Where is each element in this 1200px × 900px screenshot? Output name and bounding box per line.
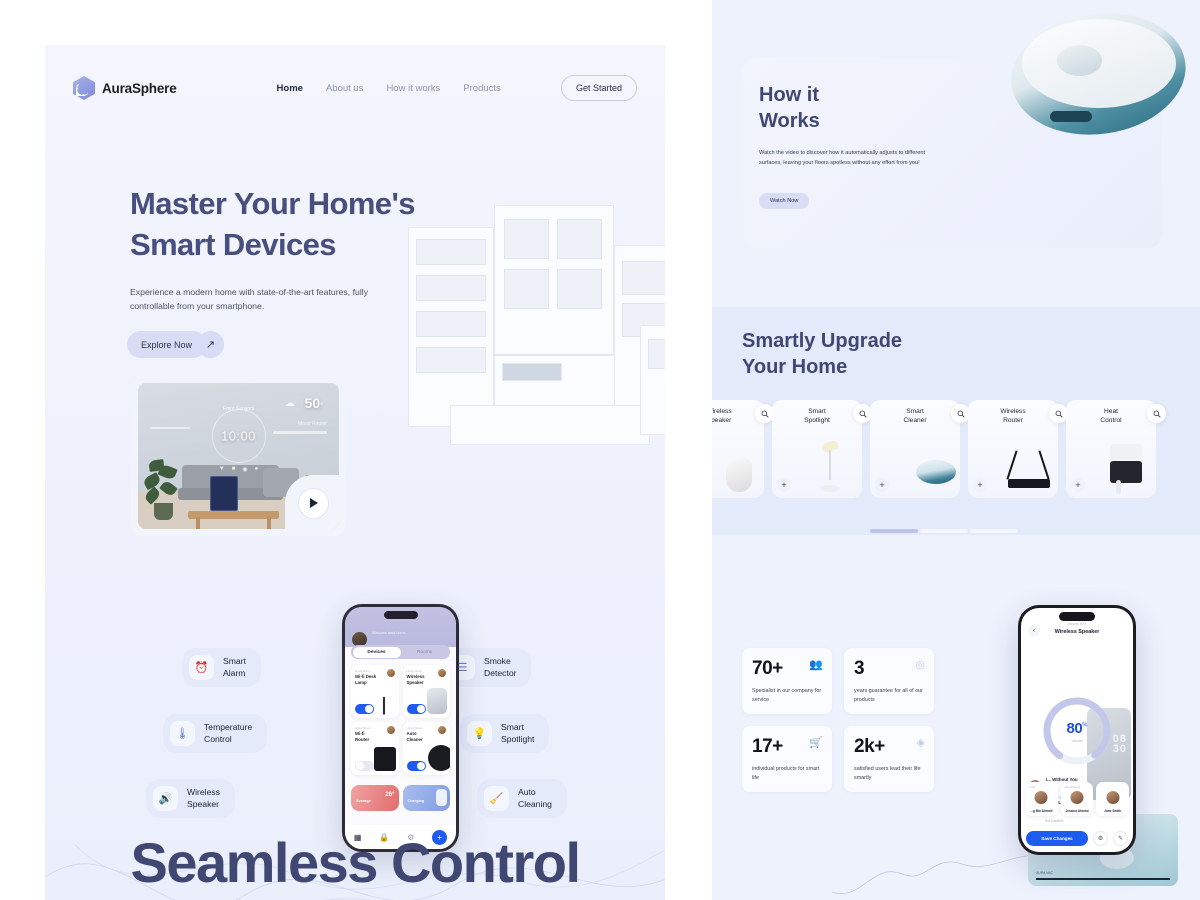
nav-links: Home About us How it works Products — [277, 83, 501, 94]
site-header: AuraSphere Home About us How it works Pr… — [45, 65, 665, 111]
feature-pill-smart-spotlight[interactable]: 💡 SmartSpotlight — [460, 714, 549, 753]
plus-icon[interactable]: + — [1071, 478, 1085, 492]
preview-clock: 10:00 — [221, 428, 256, 443]
status-strip-charging[interactable]: Charging50% — [403, 785, 451, 811]
living-room-photo: Front Sensors 10:00 ☁ 50° Mood Router ▼■… — [138, 383, 339, 529]
device-card[interactable]: Living Room Wi-fi Desk Lamp — [351, 665, 399, 718]
stat-number: 2k+ — [854, 736, 924, 758]
speaker-image — [726, 458, 752, 492]
search-icon[interactable] — [1147, 404, 1166, 423]
feature-pill-label: AutoCleaning — [518, 787, 552, 810]
product-name: WirelessRouter — [968, 408, 1058, 426]
product-carousel[interactable]: WirelessSpeaker + SmartSpotlight — [712, 400, 1162, 498]
feature-pill-label: SmokeDetector — [484, 656, 516, 679]
brand-name: AuraSphere — [102, 81, 177, 96]
device-card[interactable]: Living Room Wi-fi Router — [351, 722, 399, 775]
product-name: SmartSpotlight — [772, 408, 862, 426]
phone-mockup-right: Volume 80% Wireless Speaker ‹ 0830 80% V… — [1018, 605, 1136, 855]
preview-controls: ▼■◉● — [219, 466, 258, 473]
hero-subtitle: Experience a modern home with state-of-t… — [130, 285, 400, 314]
plus-icon[interactable]: + — [777, 478, 791, 492]
wifi-hexagon-logo-icon — [73, 76, 95, 100]
speaker-image — [427, 688, 447, 714]
product-card-smart-spotlight[interactable]: SmartSpotlight + — [772, 400, 862, 498]
gear-icon[interactable]: ⚙ — [1093, 831, 1108, 846]
device-name: Wi-fi Desk Lamp — [355, 674, 377, 685]
feature-pill-label: WirelessSpeaker — [187, 787, 220, 810]
save-changes-button[interactable]: Save Changes — [1026, 831, 1088, 846]
device-name: Auto Cleaner — [407, 731, 429, 742]
stat-number: 3 — [854, 658, 924, 680]
phone-actions: Save Changes ⚙ ✎ — [1026, 831, 1128, 846]
strip-value: 26° — [385, 792, 394, 798]
avatar — [387, 669, 395, 677]
home-dashboard-preview: Front Sensors 10:00 ☁ 50° Mood Router ▼■… — [131, 376, 346, 536]
screenshot-stage: AuraSphere Home About us How it works Pr… — [0, 0, 1200, 900]
people-row: 1720 ...g Bin Ahmed Now Playing Jessica … — [1025, 782, 1129, 816]
pagination-bar-3[interactable] — [970, 529, 1018, 533]
cart-icon: 🛒 — [809, 736, 823, 749]
device-name: Wi-fi Router — [355, 731, 377, 742]
video-caption: AURA VAC — [1036, 871, 1053, 875]
play-button-wrapper — [285, 475, 339, 529]
greeting-text: Welcome back home, — [372, 631, 407, 635]
alarm-clock-icon: ⏰ — [189, 655, 214, 680]
volume-percent: 80% Volume — [1042, 696, 1112, 766]
upgrade-title-line1: Smartly Upgrade — [742, 328, 902, 354]
avatar — [387, 726, 395, 734]
cloud-icon: ☁ — [285, 398, 295, 409]
desk-lamp-image — [808, 440, 856, 492]
explore-now-button[interactable]: Explore Now ↗ — [127, 331, 224, 358]
person-card[interactable]: Jane Smith — [1096, 782, 1129, 816]
phone-header: Welcome back home, Mudheel Anderson — [345, 607, 456, 647]
how-it-works-body: Watch the video to discover how it autom… — [759, 148, 939, 169]
feature-pill-wireless-speaker[interactable]: 🔊 WirelessSpeaker — [146, 779, 235, 818]
arrow-up-right-icon: ↗ — [197, 331, 224, 358]
product-card-wireless-router[interactable]: WirelessRouter + — [968, 400, 1058, 498]
product-card-wireless-speaker[interactable]: WirelessSpeaker + — [712, 400, 764, 498]
person-name: Jessica Ahmed — [1061, 809, 1094, 813]
digital-clock: 0830 — [1113, 734, 1127, 755]
avatar — [438, 726, 446, 734]
cleaner-image — [428, 745, 450, 771]
device-card-grid: Living Room Wi-fi Desk Lamp Living Room … — [351, 665, 450, 775]
router-image — [1004, 440, 1052, 492]
preview-temperature: 50° — [305, 395, 323, 411]
nav-item-home[interactable]: Home — [277, 83, 303, 94]
lifebuoy-icon: ◈ — [917, 736, 925, 749]
stat-card: 17+ individual products for smart life 🛒 — [742, 726, 832, 792]
building-illustration — [390, 205, 665, 475]
device-toggle[interactable] — [407, 704, 426, 714]
person-card[interactable]: 1720 ...g Bin Ahmed — [1025, 782, 1058, 816]
feature-pill-temperature-control[interactable]: 🌡 TemperatureControl — [163, 714, 267, 753]
upgrade-title: Smartly Upgrade Your Home — [742, 328, 902, 381]
play-icon[interactable] — [298, 488, 329, 519]
person-card[interactable]: Now Playing Jessica Ahmed — [1061, 782, 1094, 816]
feature-pill-label: TemperatureControl — [204, 722, 252, 745]
battery-icon — [436, 789, 447, 806]
product-name: SmartCleaner — [870, 408, 960, 426]
stat-caption: individual products for smart life — [752, 765, 822, 784]
nav-item-products[interactable]: Products — [463, 83, 501, 94]
right-landing-page: How it Works Watch the video to discover… — [712, 0, 1200, 900]
get-started-button[interactable]: Get Started — [561, 75, 637, 101]
target-icon: ◎ — [915, 658, 925, 671]
avatar — [1071, 791, 1084, 804]
stat-card: 3 years guarantee for all of our product… — [844, 648, 934, 714]
seamless-control-heading: Seamless Control — [45, 830, 665, 895]
device-name: Wireless Speaker — [407, 674, 429, 685]
feature-pill-smart-alarm[interactable]: ⏰ SmartAlarm — [182, 648, 261, 687]
stat-caption: Specialist in our company for service — [752, 687, 822, 706]
watch-now-button[interactable]: Watch Now — [759, 193, 809, 209]
phone-notch — [384, 611, 418, 619]
robot-vacuum-hero-image — [1011, 14, 1186, 134]
carousel-pagination[interactable] — [870, 529, 1018, 533]
stat-card: 70+ Specialist in our company for servic… — [742, 648, 832, 714]
how-it-works-title-line1: How it — [759, 82, 820, 108]
device-toggle[interactable] — [355, 761, 374, 771]
nav-item-how-it-works[interactable]: How it works — [386, 83, 440, 94]
feature-pill-label: SmartAlarm — [223, 656, 246, 679]
person-tag: 1720 — [1029, 785, 1035, 789]
device-card[interactable]: Living Room Auto Cleaner — [403, 722, 451, 775]
person-tag: Now Playing — [1065, 785, 1081, 789]
explore-now-label: Explore Now — [127, 331, 206, 358]
strip-label: AverageTemp — [356, 799, 371, 811]
phone-notch — [1059, 612, 1095, 621]
lightbulb-icon: 💡 — [467, 721, 492, 746]
how-it-works-title-line2: Works — [759, 108, 820, 134]
router-image — [374, 747, 396, 771]
people-icon: 👥 — [809, 658, 823, 671]
feature-pill-label: SmartSpotlight — [501, 722, 534, 745]
product-card-heat-control[interactable]: HeatControl + — [1066, 400, 1156, 498]
person-name: ...g Bin Ahmed — [1025, 809, 1058, 813]
product-card-smart-cleaner[interactable]: SmartCleaner + — [870, 400, 960, 498]
status-strip-average-temp[interactable]: AverageTemp 26° — [351, 785, 399, 811]
device-toggle[interactable] — [355, 704, 374, 714]
chevron-left-icon[interactable]: ‹ — [1028, 625, 1040, 637]
thermometer-icon: 🌡 — [170, 721, 195, 746]
stats-grid: 70+ Specialist in our company for servic… — [742, 648, 934, 792]
vacuum-icon: 🧹 — [484, 786, 509, 811]
feature-pill-auto-cleaning[interactable]: 🧹 AutoCleaning — [477, 779, 567, 818]
stat-caption: years guarantee for all of our products — [854, 687, 924, 706]
how-it-works-title: How it Works — [759, 82, 820, 135]
avatar — [438, 669, 446, 677]
stat-caption: satisfied users lead their life smartly — [854, 765, 924, 784]
phone-tabs: Devices Rooms — [351, 645, 450, 659]
plus-icon[interactable]: + — [875, 478, 889, 492]
brand[interactable]: AuraSphere — [73, 76, 177, 100]
cable-line — [832, 842, 1052, 900]
avatar — [1035, 791, 1048, 804]
plant — [146, 459, 180, 520]
stat-card: 2k+ satisfied users lead their life smar… — [844, 726, 934, 792]
strip-label: Charging50% — [408, 799, 425, 811]
person-name: Jane Smith — [1096, 809, 1129, 813]
status-strips: AverageTemp 26° Charging50% — [351, 785, 450, 811]
nav-item-about-us[interactable]: About us — [326, 83, 364, 94]
tab-rooms[interactable]: Rooms — [401, 647, 449, 658]
speaker-icon: 🔊 — [153, 786, 178, 811]
avatar — [1106, 791, 1119, 804]
pagination-bar-1[interactable] — [870, 529, 918, 533]
pencil-icon[interactable]: ✎ — [1113, 831, 1128, 846]
preview-mode-label: Mood Router — [298, 421, 327, 427]
product-name: HeatControl — [1066, 408, 1156, 426]
cleaner-image — [916, 460, 956, 484]
air-fryer-image — [1102, 440, 1150, 492]
upgrade-title-line2: Your Home — [742, 354, 902, 380]
device-card[interactable]: Living Room Wireless Speaker — [403, 665, 451, 718]
plus-icon[interactable]: + — [973, 478, 987, 492]
tab-devices[interactable]: Devices — [353, 647, 401, 658]
device-toggle[interactable] — [407, 761, 426, 771]
row-subtitle: Not Available — [1045, 819, 1064, 823]
desk-lamp-image — [372, 683, 398, 717]
pagination-bar-2[interactable] — [920, 529, 968, 533]
left-landing-page: AuraSphere Home About us How it works Pr… — [45, 45, 665, 900]
